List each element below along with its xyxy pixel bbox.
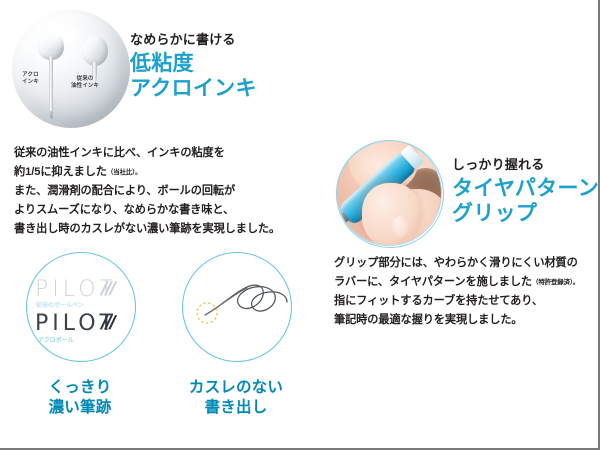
ink-copy-line: 書き出し時のカスレがない濃い筆跡を実現しました。	[14, 220, 324, 239]
ink-copy-line-text: また、潤滑剤の配合により、ボールの回転が	[14, 185, 235, 197]
ink-copy-line-text: 約1/5に抑えました	[14, 166, 107, 178]
ink-headline-line1: 低粘度	[130, 51, 340, 76]
product-feature-panel: アクロ インキ 従来の 油性インキ なめらかに書ける 低粘度 アクロインキ 従来…	[0, 0, 600, 450]
grip-photo	[337, 141, 441, 245]
ink-copy-line: 従来の油性インキに比べ、インキの粘度を	[14, 144, 324, 163]
grip-copy-line-text: 指にフィットするカーブを持たせてあり、	[334, 295, 543, 307]
ink-copy-line-note: （当社比）。	[107, 169, 142, 176]
grip-copy-line-text: 筆記時の最適な握りを実現しました。	[334, 314, 523, 326]
grip-headline-line1: タイヤパターン	[452, 176, 600, 201]
acro-ink-drop-label-line2: インキ	[22, 79, 39, 85]
grip-copy-line: 筆記時の最適な握りを実現しました。	[334, 311, 594, 330]
sample-caption-no-skip: カスレのない 書き出し	[156, 378, 316, 418]
ink-heading-block: なめらかに書ける 低粘度 アクロインキ	[130, 32, 340, 101]
ink-copy-line-text: 従来の油性インキに比べ、インキの粘度を	[14, 147, 225, 159]
thumb-shape	[362, 183, 422, 245]
ink-copy-line: また、潤滑剤の配合により、ボールの回転が	[14, 182, 324, 201]
ink-copy-line: よりスムーズになり、なめらかな書き味と、	[14, 201, 324, 220]
acro-ink-drop-label: アクロ インキ	[22, 72, 39, 86]
acro-ink-drop-tail-icon	[49, 56, 53, 114]
ink-copy-line: 約1/5に抑えました（当社比）。	[14, 163, 324, 182]
sample-caption-line1: くっきり	[0, 378, 160, 398]
sample-caption-line2: 書き出し	[156, 398, 316, 418]
conventional-ink-drop-label-line1: 従来の	[77, 76, 94, 82]
ink-body-copy: 従来の油性インキに比べ、インキの粘度を 約1/5に抑えました（当社比）。 また、…	[14, 144, 324, 239]
ink-copy-line-text: よりスムーズになり、なめらかな書き味と、	[14, 204, 234, 216]
grip-copy-line-text: グリップ部分には、やわらかく滑りにくい材質の	[334, 257, 578, 269]
writing-sample-circle-dark-stroke: PILOT /// 従来のボールペン PILOT /// アクロボール	[26, 252, 136, 362]
thumbnail-shape	[392, 216, 408, 237]
sphere-icon: アクロ インキ 従来の 油性インキ	[12, 10, 130, 128]
grip-copy-line: ラバーに、タイヤパターンを施しました（特許登録済）。	[334, 273, 594, 292]
ink-viscosity-illustration: アクロ インキ 従来の 油性インキ	[8, 8, 136, 130]
acro-ink-drop-label-line1: アクロ	[22, 72, 39, 78]
grip-headline-line2: グリップ	[452, 201, 600, 226]
writing-sample-circle-no-skip	[182, 252, 292, 362]
loop-scribble-icon	[183, 253, 291, 361]
start-point-highlight-icon	[197, 303, 217, 323]
sample-caption-line2: 濃い筆跡	[0, 398, 160, 418]
conventional-ink-drop-label: 従来の 油性インキ	[71, 76, 99, 90]
pilot-sub-label-dark: アクロボール	[38, 337, 74, 345]
sample-caption-line1: カスレのない	[156, 378, 316, 398]
grip-heading-block: しっかり握れる タイヤパターン グリップ	[452, 157, 600, 226]
grip-body-copy: グリップ部分には、やわらかく滑りにくい材質の ラバーに、タイヤパターンを施しまし…	[334, 254, 594, 330]
grip-kicker: しっかり握れる	[452, 157, 600, 173]
ink-copy-line-text: 書き出し時のカスレがない濃い筆跡を実現しました。	[14, 223, 280, 235]
grip-copy-line-text: ラバーに、タイヤパターンを施しました	[334, 276, 532, 288]
sample-caption-dark-stroke: くっきり 濃い筆跡	[0, 378, 160, 418]
conventional-ink-drop-label-line2: 油性インキ	[71, 83, 99, 89]
ink-kicker: なめらかに書ける	[130, 32, 340, 48]
grip-copy-line: グリップ部分には、やわらかく滑りにくい材質の	[334, 254, 594, 273]
grip-copy-line: 指にフィットするカーブを持たせてあり、	[334, 292, 594, 311]
grip-copy-line-note: （特許登録済）。	[532, 279, 579, 286]
pilot-sub-label-faint: 従来のボールペン	[36, 302, 84, 310]
ink-headline-line2: アクロインキ	[130, 76, 340, 101]
